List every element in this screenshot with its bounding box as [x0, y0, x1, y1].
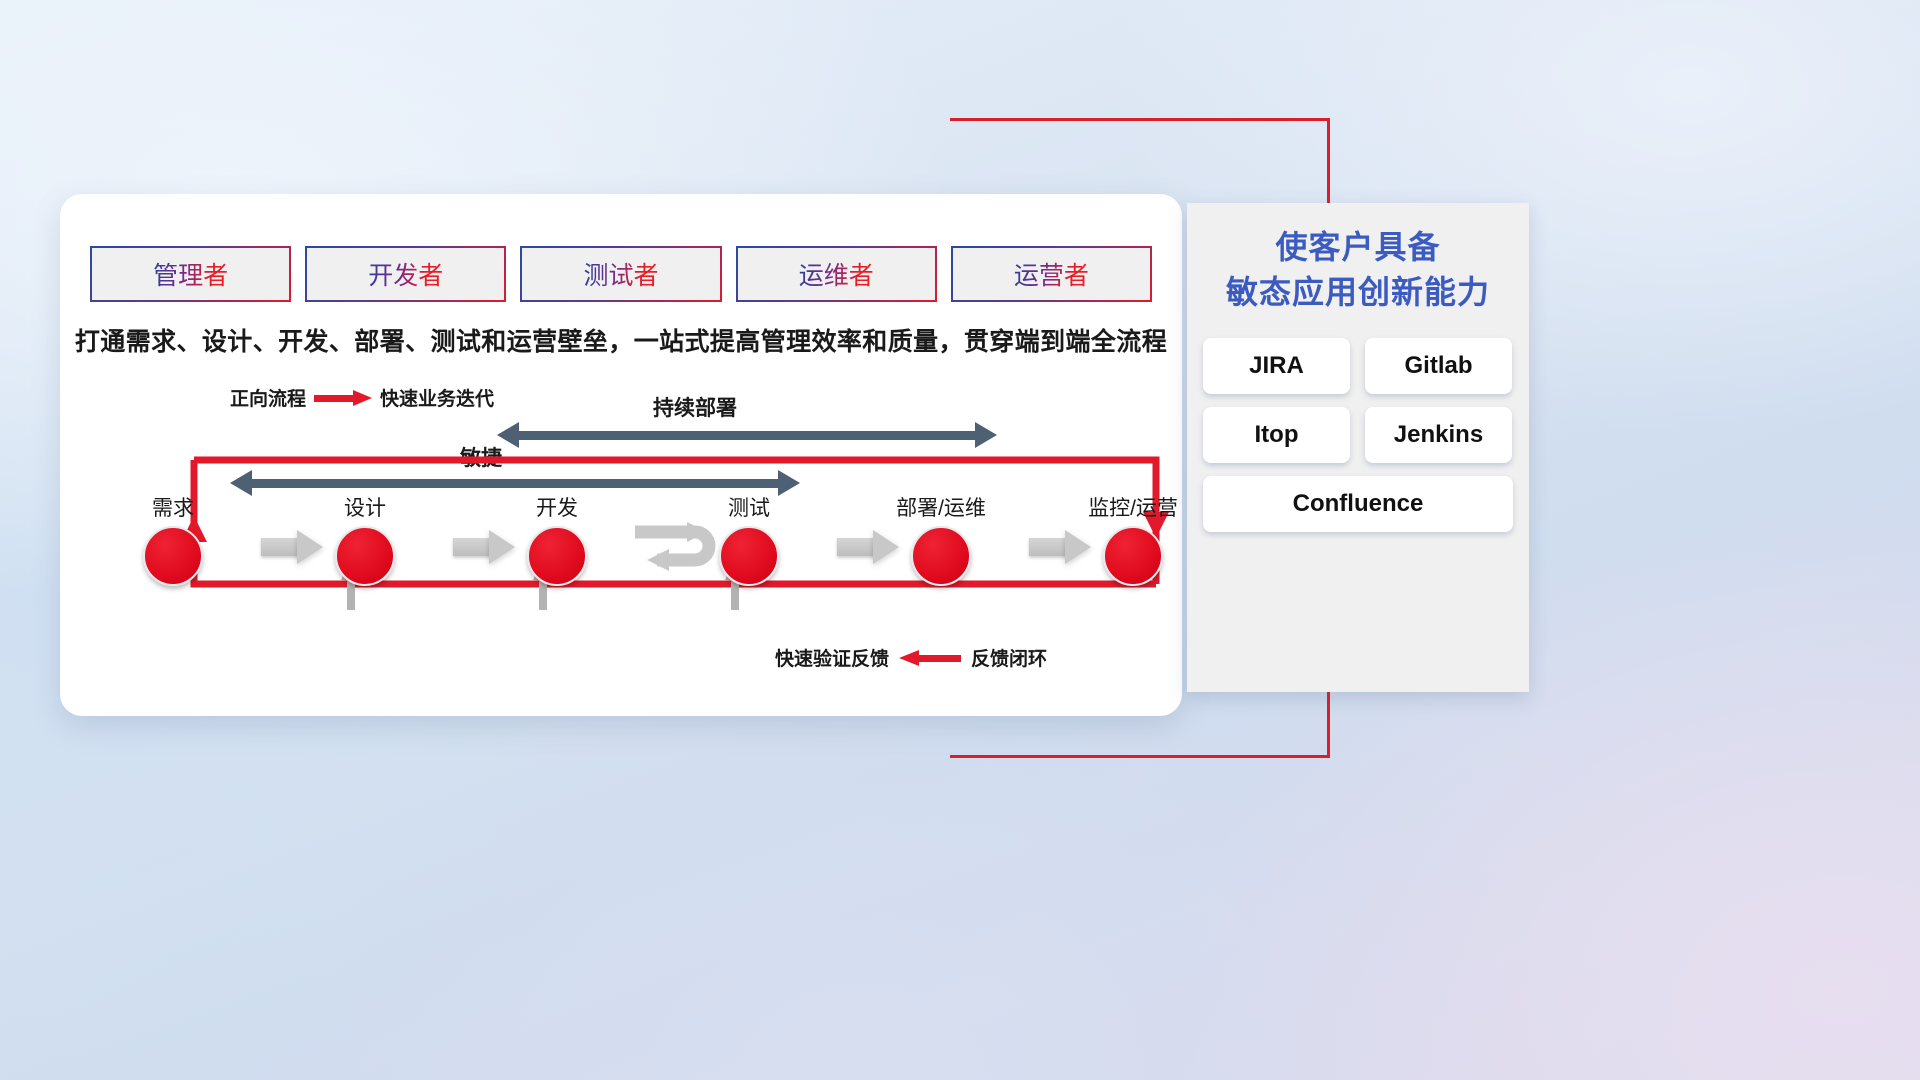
stage-label: 监控/运营 — [1073, 492, 1193, 522]
tools-panel-title-line2: 敏态应用创新能力 — [1203, 270, 1513, 315]
role-box-tester[interactable]: 测试者 — [520, 246, 721, 302]
devops-overview-card: 管理者 开发者 测试者 运维者 运营者 打通需求、设计、开发、部署、测试和运营壁… — [60, 194, 1182, 716]
agile-caption: 敏捷 — [460, 442, 502, 472]
tool-chip-label: Confluence — [1293, 490, 1424, 518]
feedback-loop-legend: 快速验证反馈 反馈闭环 — [775, 644, 1047, 671]
tool-chip-itop[interactable]: Itop — [1203, 407, 1350, 463]
role-label: 管理者 — [153, 256, 228, 292]
tool-chip-label: Gitlab — [1404, 352, 1472, 380]
role-box-developer[interactable]: 开发者 — [305, 246, 506, 302]
role-box-manager[interactable]: 管理者 — [90, 246, 291, 302]
feedback-source-label: 反馈闭环 — [971, 644, 1047, 671]
red-arrow-right-icon — [314, 390, 372, 406]
tools-panel: 使客户具备 敏态应用创新能力 JIRA Gitlab Itop Jenkins … — [1187, 203, 1529, 692]
stage-dot-icon — [1103, 526, 1163, 586]
role-box-operator[interactable]: 运营者 — [951, 246, 1152, 302]
stage-deploy-ops[interactable]: 部署/运维 — [881, 492, 1001, 586]
stage-testing[interactable]: 测试 — [689, 492, 809, 586]
forward-flow-source-label: 正向流程 — [230, 384, 306, 411]
card-subtitle: 打通需求、设计、开发、部署、测试和运营壁垒，一站式提高管理效率和质量，贯穿端到端… — [60, 322, 1182, 358]
tools-panel-title-line1: 使客户具备 — [1203, 225, 1513, 270]
stage-dot-icon — [143, 526, 203, 586]
tool-chip-list: JIRA Gitlab Itop Jenkins Confluence — [1203, 338, 1513, 532]
stage-label: 需求 — [113, 492, 233, 522]
tool-chip-label: Jenkins — [1394, 421, 1483, 449]
stage-dot-icon — [527, 526, 587, 586]
tool-chip-confluence[interactable]: Confluence — [1203, 476, 1513, 532]
forward-flow-target-label: 快速业务迭代 — [380, 384, 494, 411]
role-label: 开发者 — [368, 256, 443, 292]
stage-dot-icon — [911, 526, 971, 586]
stage-requirements[interactable]: 需求 — [113, 492, 233, 586]
tool-chip-label: Itop — [1255, 421, 1299, 449]
tool-chip-gitlab[interactable]: Gitlab — [1365, 338, 1512, 394]
stage-design[interactable]: 设计 — [305, 492, 425, 586]
tool-chip-jenkins[interactable]: Jenkins — [1365, 407, 1512, 463]
role-box-row: 管理者 开发者 测试者 运维者 运营者 — [90, 246, 1152, 302]
stage-development[interactable]: 开发 — [497, 492, 617, 586]
role-label: 运维者 — [799, 256, 874, 292]
stage-monitor-operate[interactable]: 监控/运营 — [1073, 492, 1193, 586]
stage-label: 设计 — [305, 492, 425, 522]
role-box-ops[interactable]: 运维者 — [736, 246, 937, 302]
stage-label: 部署/运维 — [881, 492, 1001, 522]
continuous-deployment-arrow-icon — [497, 422, 997, 448]
stage-label: 开发 — [497, 492, 617, 522]
red-arrow-left-icon — [899, 650, 961, 666]
feedback-target-label: 快速验证反馈 — [775, 644, 889, 671]
role-label: 运营者 — [1014, 256, 1089, 292]
continuous-deployment-caption: 持续部署 — [653, 392, 737, 422]
stage-dot-icon — [719, 526, 779, 586]
forward-flow-legend: 正向流程 快速业务迭代 — [230, 384, 494, 411]
tool-chip-label: JIRA — [1249, 352, 1304, 380]
tool-chip-jira[interactable]: JIRA — [1203, 338, 1350, 394]
pipeline-row: 需求 设计 开发 测试 部署/运 — [98, 492, 1182, 612]
stage-label: 测试 — [689, 492, 809, 522]
stage-dot-icon — [335, 526, 395, 586]
role-label: 测试者 — [584, 256, 659, 292]
